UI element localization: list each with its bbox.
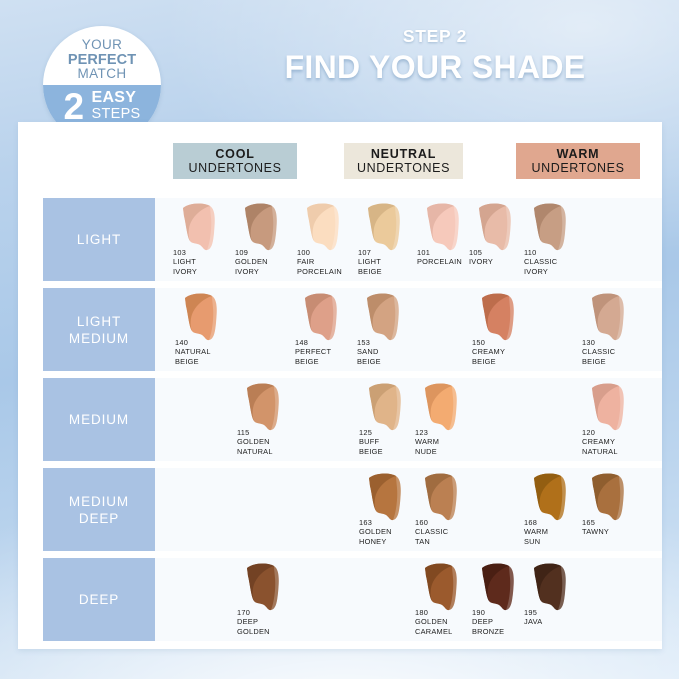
shade-name-line1: DEEP <box>472 617 504 626</box>
shade-name-line2: PORCELAIN <box>297 267 342 276</box>
shade-label: 153SANDBEIGE <box>357 338 381 366</box>
shade-name-line1: SAND <box>357 347 381 356</box>
undertone-header-neutral: NEUTRAL UNDERTONES <box>344 143 463 179</box>
shade-swatch-cell[interactable]: 105IVORY <box>469 198 531 281</box>
shade-code: 105 <box>469 248 493 257</box>
shade-name-line1: IVORY <box>469 257 493 266</box>
foundation-smear-icon <box>475 202 517 252</box>
shade-name-line2: IVORY <box>235 267 268 276</box>
shade-name-line2: TAN <box>415 537 448 546</box>
shade-label: 105IVORY <box>469 248 493 267</box>
title-block: STEP 2 FIND YOUR SHADE <box>215 26 655 87</box>
shade-name-line1: GOLDEN <box>237 437 273 446</box>
undertone-warm-name: WARM <box>516 148 640 162</box>
shade-label: 103LIGHTIVORY <box>173 248 197 276</box>
shade-label: 100FAIRPORCELAIN <box>297 248 342 276</box>
shade-label: 125BUFFBEIGE <box>359 428 383 456</box>
shade-name-line1: DEEP <box>237 617 270 626</box>
shade-name-line1: CLASSIC <box>415 527 448 536</box>
shade-label: 165TAWNY <box>582 518 609 537</box>
shade-name-line1: CREAMY <box>472 347 505 356</box>
shade-name-line1: PERFECT <box>295 347 331 356</box>
foundation-smear-icon <box>421 472 463 522</box>
shade-swatch-cell[interactable]: 107LIGHTBEIGE <box>358 198 420 281</box>
shade-code: 168 <box>524 518 548 527</box>
shade-name-line2: BEIGE <box>582 357 615 366</box>
shade-label: 123WARMNUDE <box>415 428 439 456</box>
shade-swatch-cell[interactable]: 115GOLDENNATURAL <box>237 378 299 461</box>
shade-swatch-cell[interactable]: 123WARMNUDE <box>415 378 477 461</box>
shade-code: 160 <box>415 518 448 527</box>
shade-name-line2: IVORY <box>173 267 197 276</box>
foundation-smear-icon <box>243 382 285 432</box>
foundation-smear-icon <box>478 562 520 612</box>
page-title: FIND YOUR SHADE <box>215 47 655 87</box>
foundation-smear-icon <box>364 202 406 252</box>
undertone-header-cool: COOL UNDERTONES <box>173 143 297 179</box>
shade-code: 120 <box>582 428 618 437</box>
shade-code: 165 <box>582 518 609 527</box>
foundation-smear-icon <box>588 472 630 522</box>
foundation-smear-icon <box>303 202 345 252</box>
shade-swatch-cell[interactable]: 180GOLDENCARAMEL <box>415 558 477 641</box>
foundation-smear-icon <box>179 202 221 252</box>
shade-name-line1: BUFF <box>359 437 383 446</box>
shade-swatch-cell[interactable]: 109GOLDENIVORY <box>235 198 297 281</box>
shade-row-label: MEDIUM <box>43 378 155 461</box>
shade-name-line2: BEIGE <box>359 447 383 456</box>
foundation-smear-icon <box>365 382 407 432</box>
badge-line3: MATCH <box>43 67 161 82</box>
foundation-smear-icon <box>421 382 463 432</box>
shade-swatch-cell[interactable]: 120CREAMYNATURAL <box>582 378 644 461</box>
shade-swatch-cell[interactable]: 130CLASSICBEIGE <box>582 288 644 371</box>
shade-code: 107 <box>358 248 382 257</box>
shade-name-line1: WARM <box>524 527 548 536</box>
shade-row: LIGHT103LIGHTIVORY109GOLDENIVORY100FAIRP… <box>18 198 662 281</box>
shade-label: 110CLASSICIVORY <box>524 248 557 276</box>
foundation-smear-icon <box>530 472 572 522</box>
shade-code: 130 <box>582 338 615 347</box>
shade-label: 195JAVA <box>524 608 542 627</box>
shade-code: 110 <box>524 248 557 257</box>
badge-step-words: EASY STEPS <box>91 88 140 122</box>
shade-row-label: DEEP <box>43 558 155 641</box>
shade-name-line2: HONEY <box>359 537 392 546</box>
undertone-header-warm: WARM UNDERTONES <box>516 143 640 179</box>
shade-name-line2: BEIGE <box>295 357 331 366</box>
badge-step-number: 2 <box>63 88 84 125</box>
shade-code: 101 <box>417 248 462 257</box>
shade-row: MEDIUM115GOLDENNATURAL125BUFFBEIGE123WAR… <box>18 378 662 461</box>
shade-swatch-cell[interactable]: 148PERFECTBEIGE <box>295 288 357 371</box>
shade-name-line2: BRONZE <box>472 627 504 636</box>
shade-name-line2: BEIGE <box>358 267 382 276</box>
shade-name-line1: NATURAL <box>175 347 211 356</box>
shade-name-line1: LIGHT <box>358 257 382 266</box>
shade-label: 180GOLDENCARAMEL <box>415 608 452 636</box>
shade-code: 103 <box>173 248 197 257</box>
shade-code: 153 <box>357 338 381 347</box>
shade-swatch-cell[interactable]: 110CLASSICIVORY <box>524 198 586 281</box>
foundation-smear-icon <box>301 292 343 342</box>
shade-name-line1: CLASSIC <box>582 347 615 356</box>
shade-row-label: MEDIUMDEEP <box>43 468 155 551</box>
foundation-smear-icon <box>588 382 630 432</box>
shade-name-line2: CARAMEL <box>415 627 452 636</box>
undertone-cool-sub: UNDERTONES <box>173 162 297 176</box>
shade-code: 180 <box>415 608 452 617</box>
shade-name-line2: GOLDEN <box>237 627 270 636</box>
shade-label: 163GOLDENHONEY <box>359 518 392 546</box>
shade-name-line2: NUDE <box>415 447 439 456</box>
shade-name-line2: BEIGE <box>357 357 381 366</box>
badge-line1: YOUR <box>43 38 161 53</box>
shade-label: 150CREAMYBEIGE <box>472 338 505 366</box>
shade-code: 115 <box>237 428 273 437</box>
shade-name-line2: SUN <box>524 537 548 546</box>
badge-bottom-text: 2 EASY STEPS <box>43 88 161 125</box>
step-label: STEP 2 <box>215 26 655 46</box>
shade-name-line1: PORCELAIN <box>417 257 462 266</box>
foundation-smear-icon <box>363 292 405 342</box>
shade-swatch-cell[interactable]: 168WARMSUN <box>524 468 586 551</box>
foundation-smear-icon <box>588 292 630 342</box>
shade-label: 148PERFECTBEIGE <box>295 338 331 366</box>
badge-easy-label: EASY <box>91 90 140 106</box>
badge-top-text: YOUR PERFECT MATCH <box>43 38 161 82</box>
shade-label: 168WARMSUN <box>524 518 548 546</box>
shade-code: 100 <box>297 248 342 257</box>
shade-label: 170DEEPGOLDEN <box>237 608 270 636</box>
undertone-warm-sub: UNDERTONES <box>516 162 640 176</box>
shade-name-line2: NATURAL <box>237 447 273 456</box>
shade-name-line2: BEIGE <box>175 357 211 366</box>
shade-row: DEEP170DEEPGOLDEN180GOLDENCARAMEL190DEEP… <box>18 558 662 641</box>
shade-code: 109 <box>235 248 268 257</box>
foundation-smear-icon <box>423 202 465 252</box>
shade-name-line1: GOLDEN <box>415 617 452 626</box>
foundation-smear-icon <box>530 202 572 252</box>
shade-name-line1: CREAMY <box>582 437 618 446</box>
shade-swatch-cell[interactable]: 100FAIRPORCELAIN <box>297 198 359 281</box>
shade-finder-poster: STEP 2 FIND YOUR SHADE YOUR PERFECT MATC… <box>0 0 679 679</box>
shade-name-line2: NATURAL <box>582 447 618 456</box>
shade-swatch-cell[interactable]: 140NATURALBEIGE <box>175 288 237 371</box>
foundation-smear-icon <box>241 202 283 252</box>
shade-label: 107LIGHTBEIGE <box>358 248 382 276</box>
shade-code: 150 <box>472 338 505 347</box>
shade-code: 163 <box>359 518 392 527</box>
shade-swatch-cell[interactable]: 103LIGHTIVORY <box>173 198 235 281</box>
foundation-smear-icon <box>478 292 520 342</box>
shade-swatch-cell[interactable]: 170DEEPGOLDEN <box>237 558 299 641</box>
shade-swatch-cell[interactable]: 125BUFFBEIGE <box>359 378 421 461</box>
undertone-neutral-name: NEUTRAL <box>344 148 463 162</box>
shade-code: 123 <box>415 428 439 437</box>
shade-row-label: LIGHTMEDIUM <box>43 288 155 371</box>
shade-swatch-cell[interactable]: 195JAVA <box>524 558 586 641</box>
shade-row: MEDIUMDEEP163GOLDENHONEY160CLASSICTAN168… <box>18 468 662 551</box>
foundation-smear-icon <box>365 472 407 522</box>
foundation-smear-icon <box>530 562 572 612</box>
shade-swatch-cell[interactable]: 163GOLDENHONEY <box>359 468 421 551</box>
poster-header: STEP 2 FIND YOUR SHADE YOUR PERFECT MATC… <box>0 0 679 128</box>
shade-swatch-cell[interactable]: 150CREAMYBEIGE <box>472 288 534 371</box>
shade-name-line2: IVORY <box>524 267 557 276</box>
shade-code: 170 <box>237 608 270 617</box>
shade-code: 140 <box>175 338 211 347</box>
shade-code: 190 <box>472 608 504 617</box>
shade-row: LIGHTMEDIUM140NATURALBEIGE148PERFECTBEIG… <box>18 288 662 371</box>
foundation-smear-icon <box>421 562 463 612</box>
shade-name-line1: TAWNY <box>582 527 609 536</box>
shade-name-line1: CLASSIC <box>524 257 557 266</box>
shade-label: 140NATURALBEIGE <box>175 338 211 366</box>
badge-steps-label: STEPS <box>91 106 140 122</box>
shade-name-line1: FAIR <box>297 257 342 266</box>
shade-label: 160CLASSICTAN <box>415 518 448 546</box>
shade-name-line2: BEIGE <box>472 357 505 366</box>
shade-name-line1: GOLDEN <box>359 527 392 536</box>
shade-label: 109GOLDENIVORY <box>235 248 268 276</box>
undertone-neutral-sub: UNDERTONES <box>344 162 463 176</box>
shade-row-label: LIGHT <box>43 198 155 281</box>
shade-label: 101PORCELAIN <box>417 248 462 267</box>
badge-line2: PERFECT <box>43 53 161 68</box>
shade-swatch-cell[interactable]: 160CLASSICTAN <box>415 468 477 551</box>
shade-label: 130CLASSICBEIGE <box>582 338 615 366</box>
shade-swatch-cell[interactable]: 153SANDBEIGE <box>357 288 419 371</box>
shade-name-line1: WARM <box>415 437 439 446</box>
shade-code: 125 <box>359 428 383 437</box>
shade-label: 120CREAMYNATURAL <box>582 428 618 456</box>
shade-label: 190DEEPBRONZE <box>472 608 504 636</box>
shade-name-line1: GOLDEN <box>235 257 268 266</box>
undertone-cool-name: COOL <box>173 148 297 162</box>
shade-label: 115GOLDENNATURAL <box>237 428 273 456</box>
shade-code: 195 <box>524 608 542 617</box>
shade-swatch-cell[interactable]: 165TAWNY <box>582 468 644 551</box>
shade-name-line1: LIGHT <box>173 257 197 266</box>
foundation-smear-icon <box>243 562 285 612</box>
shade-code: 148 <box>295 338 331 347</box>
shade-name-line1: JAVA <box>524 617 542 626</box>
foundation-smear-icon <box>181 292 223 342</box>
